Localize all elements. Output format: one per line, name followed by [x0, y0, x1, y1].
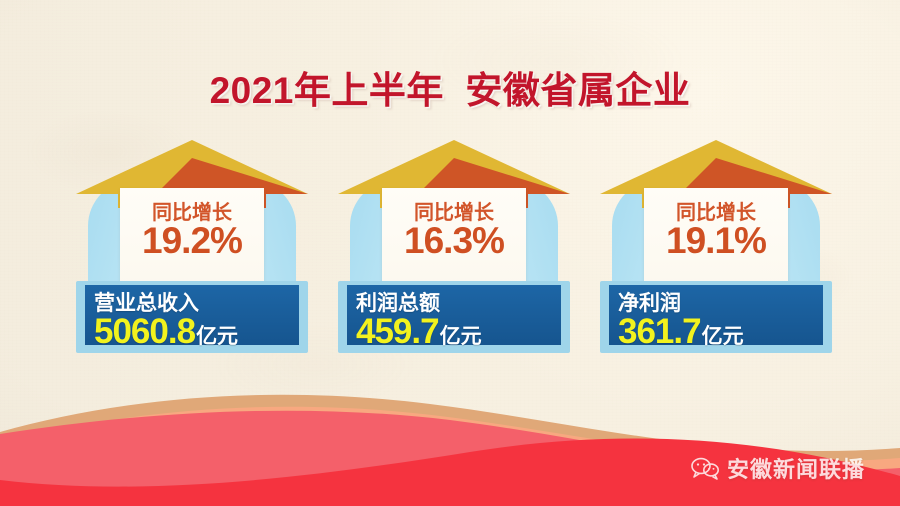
metric-card-total-profit: 同比增长 16.3% 利润总额 459.7亿元 — [338, 138, 570, 363]
growth-value: 19.2% — [120, 221, 264, 261]
metric-card-revenue: 同比增长 19.2% 营业总收入 5060.8亿元 — [76, 138, 308, 363]
watermark-text: 安徽新闻联播 — [727, 452, 865, 484]
growth-panel: 同比增长 16.3% — [382, 188, 526, 292]
decorative-wave-band — [0, 376, 900, 506]
metric-card-net-profit: 同比增长 19.1% 净利润 361.7亿元 — [600, 138, 832, 363]
growth-panel: 同比增长 19.1% — [644, 188, 788, 292]
page-title: 2021年上半年 安徽省属企业 — [0, 60, 900, 114]
metric-figure: 361.7亿元 — [618, 312, 818, 352]
metric-number: 361.7 — [618, 312, 701, 351]
wechat-bubbles-icon — [690, 456, 720, 480]
metric-figure: 5060.8亿元 — [94, 312, 294, 352]
growth-value: 16.3% — [382, 221, 526, 261]
growth-value: 19.1% — [644, 221, 788, 261]
growth-panel: 同比增长 19.2% — [120, 188, 264, 292]
metric-unit: 亿元 — [702, 325, 744, 348]
metric-figure: 459.7亿元 — [356, 312, 556, 352]
metric-unit: 亿元 — [196, 325, 238, 348]
metric-number: 459.7 — [356, 312, 439, 351]
metric-unit: 亿元 — [440, 325, 482, 348]
metric-number: 5060.8 — [94, 312, 195, 351]
channel-watermark: 安徽新闻联播 — [690, 452, 865, 484]
infographic-canvas: 2021年上半年 安徽省属企业 同比增长 19.2% 营业总收入 5060.8亿… — [0, 0, 900, 506]
